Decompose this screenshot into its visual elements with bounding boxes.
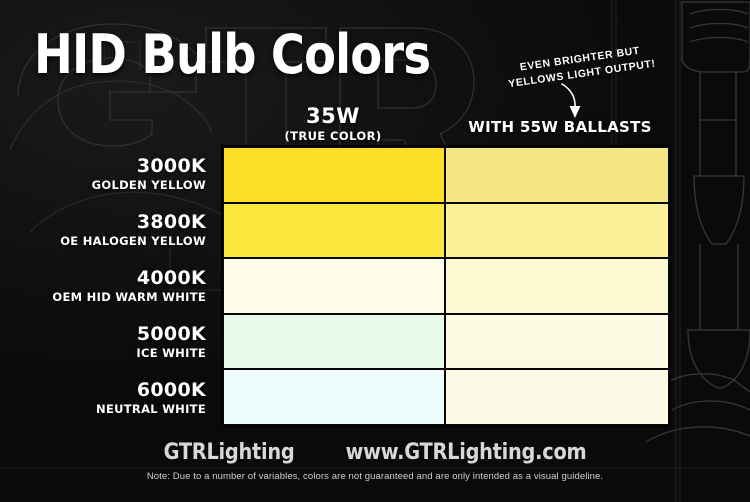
swatch-35w	[224, 204, 446, 258]
column-header-35w-title: 35W	[222, 104, 444, 128]
swatch-55w	[446, 315, 668, 369]
swatch-35w	[224, 148, 446, 202]
color-swatch-table	[222, 146, 670, 426]
table-row	[224, 259, 668, 315]
footer: GTRLighting www.GTRLighting.com Note: Du…	[0, 440, 750, 482]
swatch-55w	[446, 259, 668, 313]
table-row	[224, 204, 668, 260]
footer-brand-line: GTRLighting www.GTRLighting.com	[45, 440, 705, 465]
swatch-35w	[224, 259, 446, 313]
row-label-kelvin: 3000K	[137, 156, 206, 177]
brand-name: GTRLighting	[164, 440, 295, 465]
row-label: 3800K OE HALOGEN YELLOW	[0, 202, 214, 258]
column-header-35w: 35W (TRUE COLOR)	[222, 104, 444, 143]
row-label-name: ICE WHITE	[136, 346, 206, 360]
row-label-kelvin: 5000K	[137, 324, 206, 345]
row-label: 4000K OEM HID WARM WHITE	[0, 258, 214, 314]
swatch-35w	[224, 315, 446, 369]
row-label-column: 3000K GOLDEN YELLOW 3800K OE HALOGEN YEL…	[0, 146, 214, 426]
row-label-name: GOLDEN YELLOW	[92, 178, 206, 192]
footer-note: Note: Due to a number of variables, colo…	[0, 471, 750, 482]
row-label-kelvin: 6000K	[137, 380, 206, 401]
brand-website[interactable]: www.GTRLighting.com	[346, 440, 587, 465]
row-label: 5000K ICE WHITE	[0, 314, 214, 370]
swatch-35w	[224, 370, 446, 424]
row-label: 3000K GOLDEN YELLOW	[0, 146, 214, 202]
swatch-55w	[446, 148, 668, 202]
page-title: HID Bulb Colors	[34, 26, 430, 84]
table-row	[224, 370, 668, 424]
table-row	[224, 315, 668, 371]
row-label: 6000K NEUTRAL WHITE	[0, 370, 214, 426]
annotation-callout: EVEN BRIGHTER BUT YELLOWS LIGHT OUTPUT!	[485, 39, 677, 95]
row-label-name: NEUTRAL WHITE	[96, 402, 206, 416]
column-header-55w: WITH 55W BALLASTS	[448, 118, 672, 136]
swatch-55w	[446, 370, 668, 424]
swatch-55w	[446, 204, 668, 258]
infographic-canvas: HID Bulb Colors EVEN BRIGHTER BUT YELLOW…	[0, 0, 750, 502]
column-header-35w-subtitle: (TRUE COLOR)	[222, 129, 444, 143]
row-label-name: OEM HID WARM WHITE	[52, 290, 206, 304]
row-label-kelvin: 3800K	[137, 212, 206, 233]
curved-arrow-down-icon	[556, 82, 596, 120]
row-label-name: OE HALOGEN YELLOW	[60, 234, 206, 248]
table-row	[224, 148, 668, 204]
row-label-kelvin: 4000K	[137, 268, 206, 289]
